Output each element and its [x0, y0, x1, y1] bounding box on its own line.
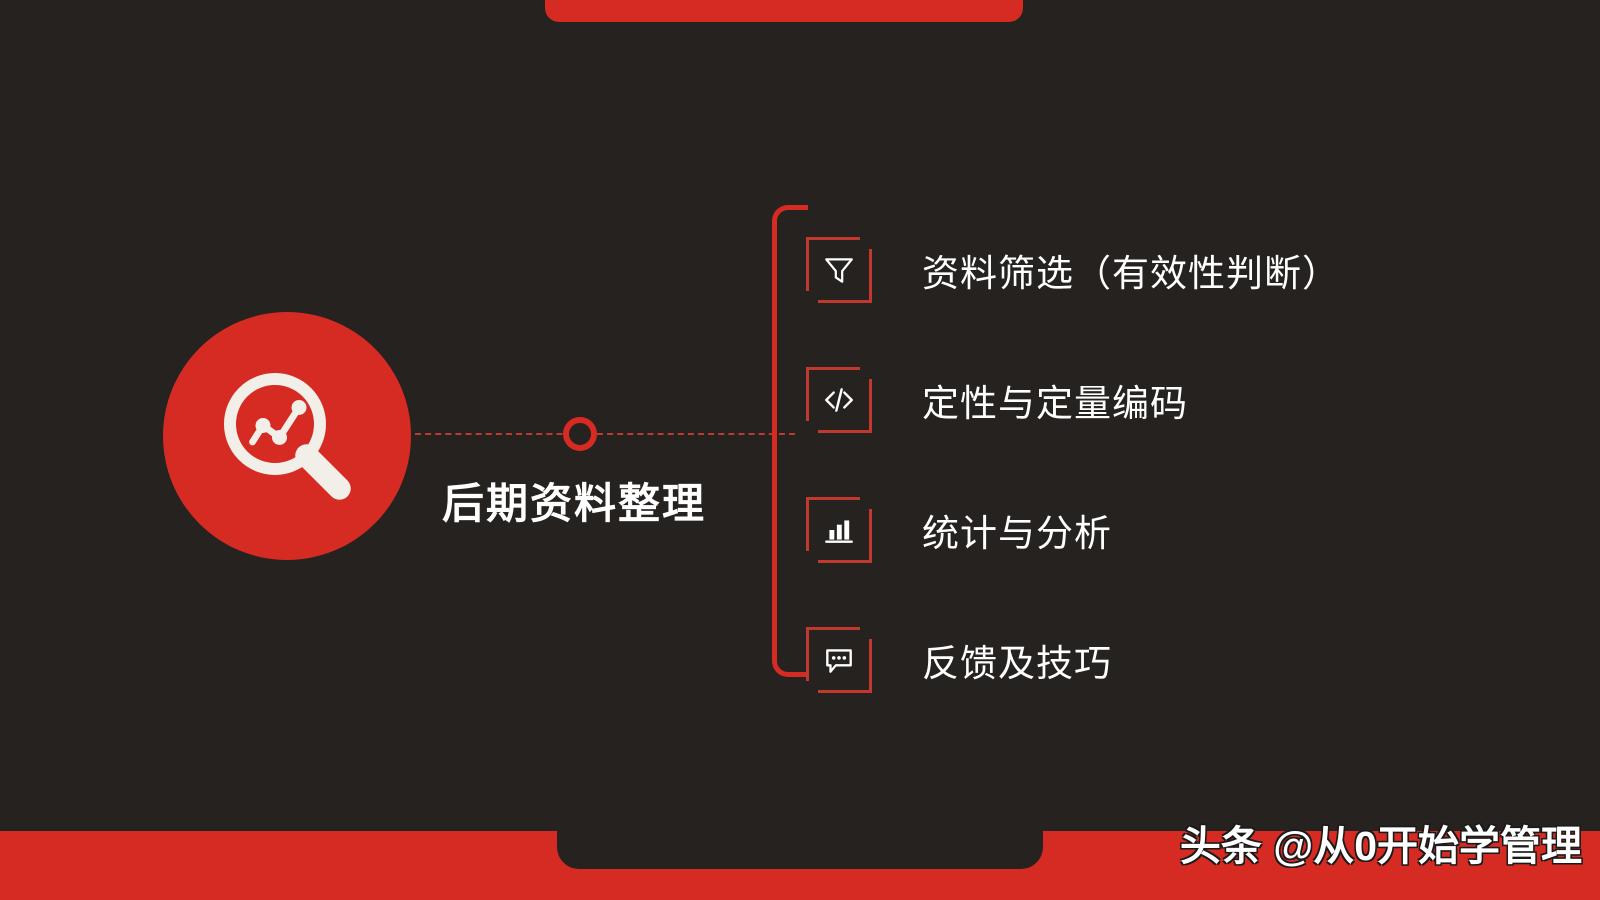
node-title: 后期资料整理	[442, 470, 706, 531]
bottom-dark-notch	[557, 826, 1043, 869]
list-item[interactable]: 资料筛选（有效性判断）	[806, 205, 1566, 335]
list-item-label: 定性与定量编码	[922, 373, 1188, 427]
item-list: 资料筛选（有效性判断） 定性与定量编码 统计与分析	[806, 205, 1566, 725]
bar-chart-icon	[822, 513, 856, 547]
icon-frame	[806, 367, 872, 433]
icon-frame	[806, 627, 872, 693]
list-item-label: 反馈及技巧	[922, 633, 1112, 687]
icon-frame	[806, 237, 872, 303]
slide-canvas: 后期资料整理 资料筛选（有效性判断） 定性与定量编码	[0, 0, 1600, 900]
list-item[interactable]: 反馈及技巧	[806, 595, 1566, 725]
main-node-circle	[163, 312, 411, 560]
top-red-tab	[545, 0, 1023, 22]
connector-node-dot	[563, 417, 597, 451]
icon-frame	[806, 497, 872, 563]
code-brackets-icon	[822, 383, 856, 417]
speech-bubble-icon	[822, 643, 856, 677]
filter-funnel-icon	[822, 253, 856, 287]
watermark: 头条 @从0开始学管理	[1180, 812, 1582, 872]
connector-line	[415, 433, 795, 435]
list-item[interactable]: 定性与定量编码	[806, 335, 1566, 465]
list-item-label: 资料筛选（有效性判断）	[922, 243, 1340, 297]
list-item[interactable]: 统计与分析	[806, 465, 1566, 595]
list-item-label: 统计与分析	[922, 503, 1112, 557]
group-bracket	[772, 205, 808, 677]
magnifier-chart-icon	[212, 361, 362, 511]
